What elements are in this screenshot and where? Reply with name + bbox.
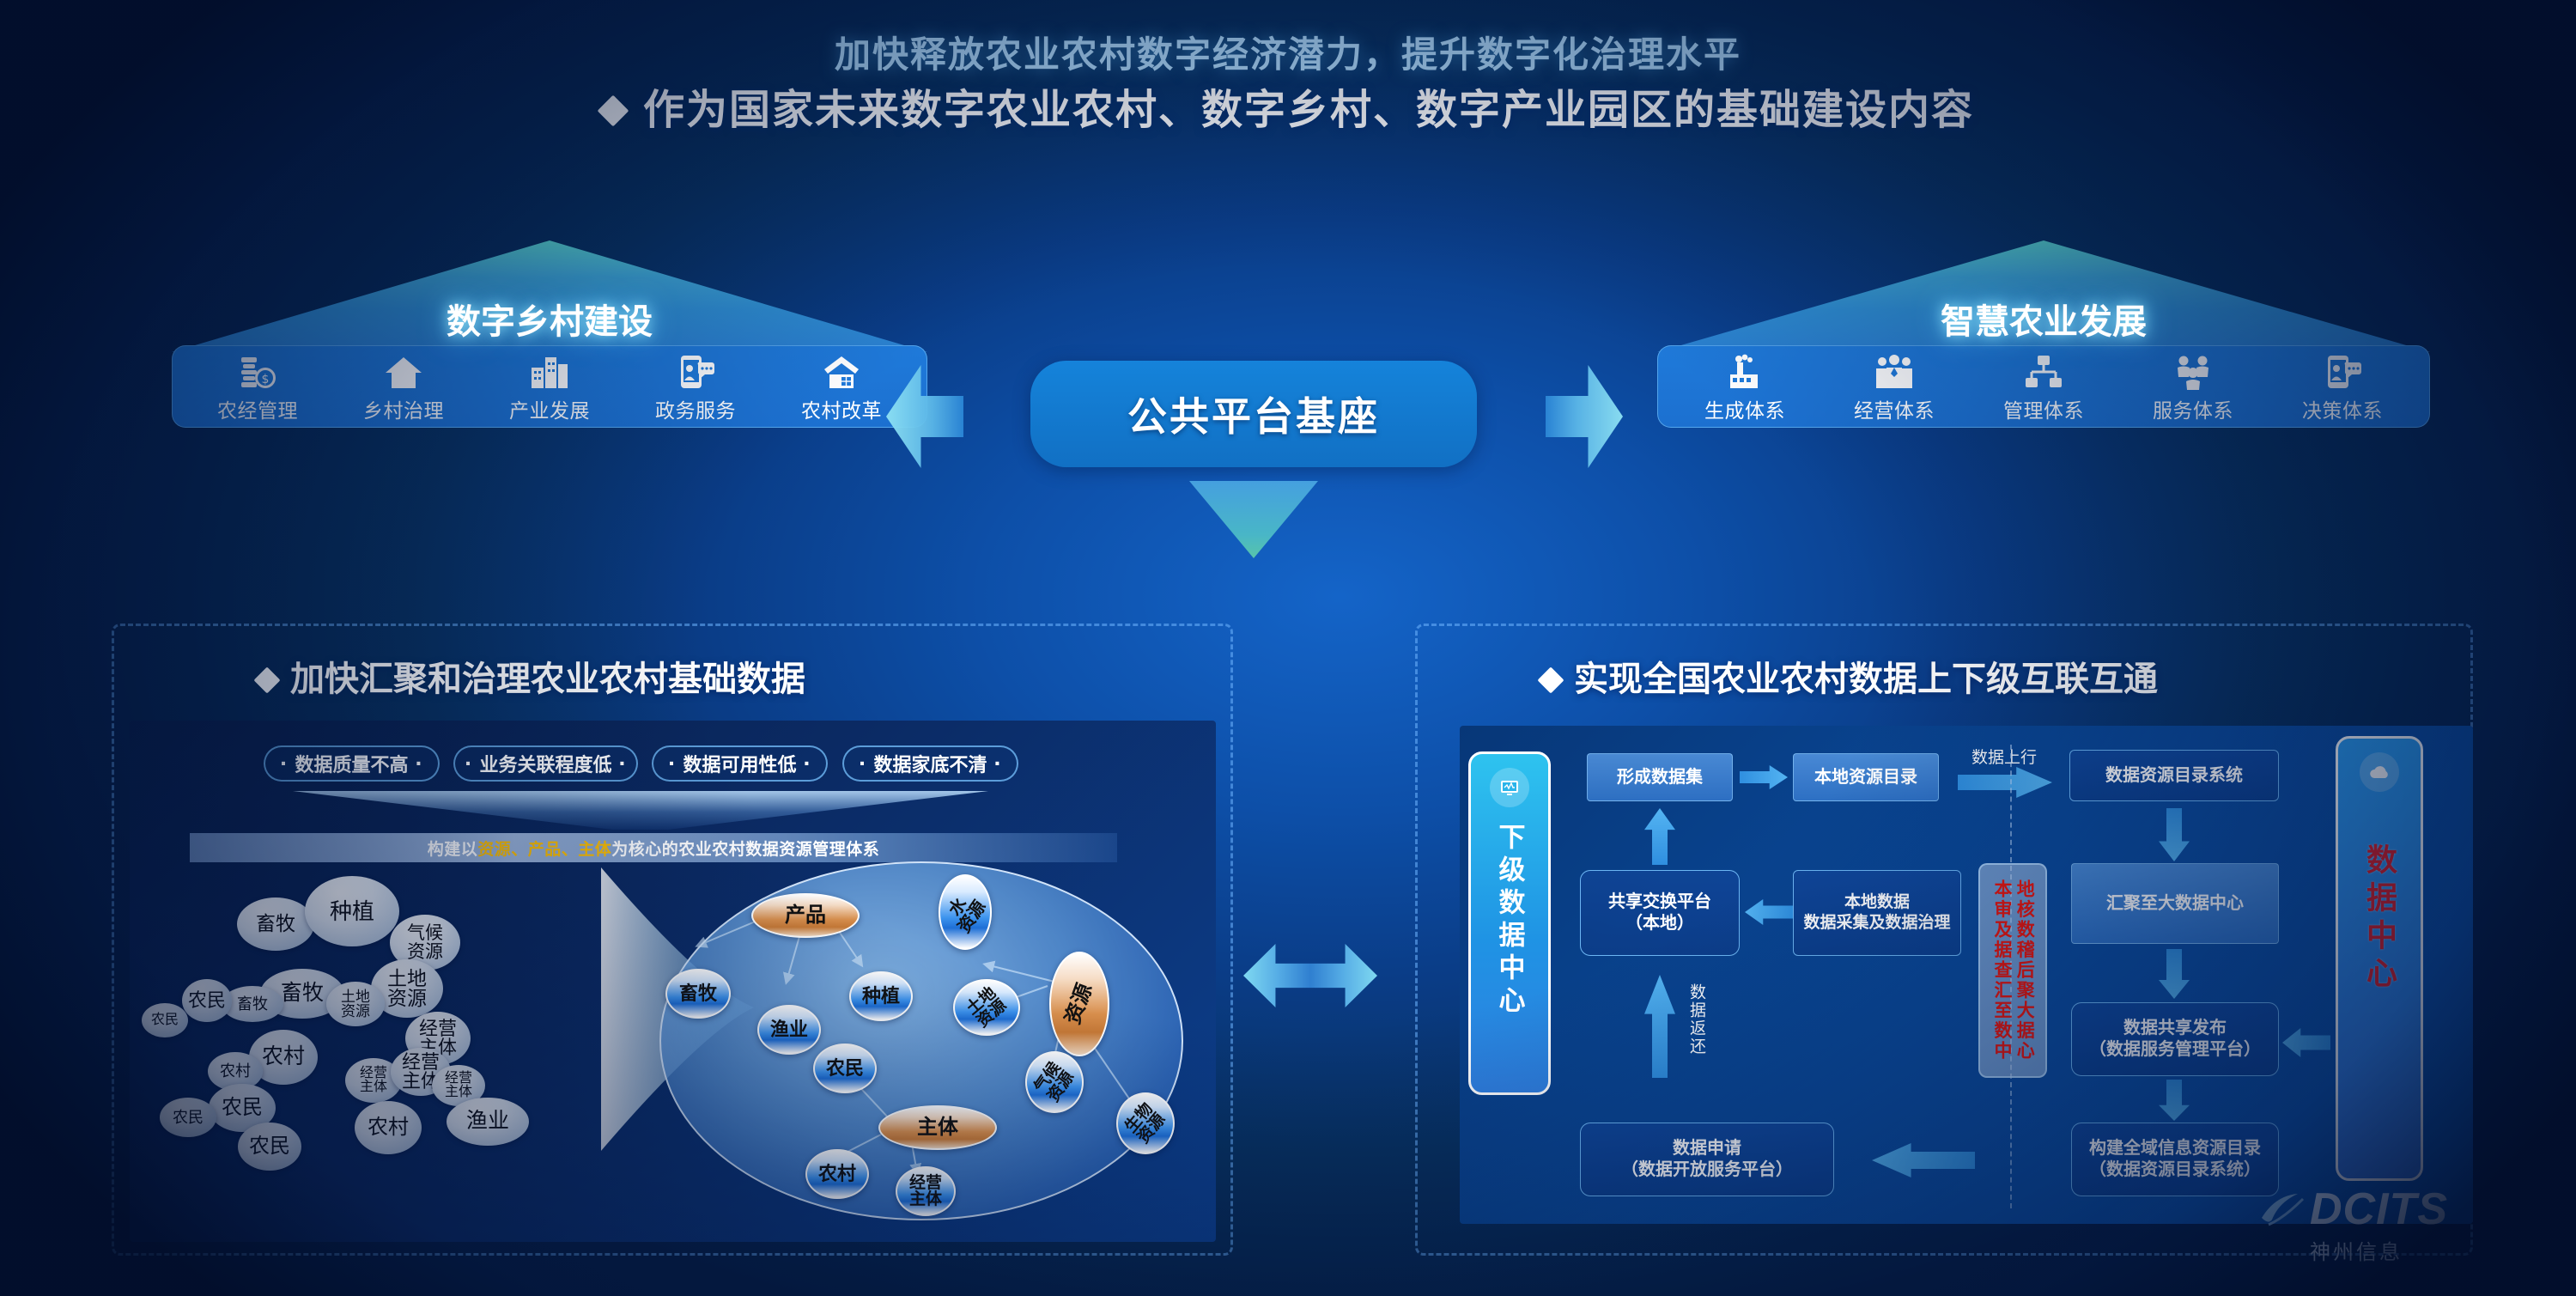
problem-pill[interactable]: 数据质量不高: [264, 745, 440, 782]
house-icon: [362, 350, 445, 390]
feature-label: 生成体系: [1704, 394, 1786, 423]
feature-label: 农经管理: [216, 394, 299, 423]
box-data-apply[interactable]: 数据申请 （数据开放服务平台）: [1580, 1123, 1834, 1196]
feature-农村改革[interactable]: 农村改革: [800, 350, 883, 423]
scatter-bubble: 农民: [182, 979, 232, 1022]
box-catalog-system[interactable]: 数据资源目录系统: [2069, 750, 2279, 801]
box-gather-center[interactable]: 汇聚至大数据中心: [2071, 863, 2279, 944]
lower-data-center-label: 下级数据中心: [1491, 823, 1529, 1019]
arrow-up-icon: [1644, 808, 1675, 865]
core-node-label: 农村: [818, 1165, 856, 1183]
money-stack-icon: $: [216, 350, 299, 390]
core-node-bubble: 渔业: [757, 1005, 821, 1055]
funnel-shape: [293, 791, 988, 830]
data-center-column[interactable]: 数据中心: [2336, 736, 2423, 1181]
banner-sep-2: 、: [562, 837, 579, 860]
logo-mark-text: DCITS: [2310, 1183, 2448, 1235]
arrow-right-icon: [1546, 365, 1623, 468]
data-interconnect-title: 实现全国农业农村数据上下级互联互通: [1541, 651, 2158, 701]
banner-sep-1: 、: [511, 837, 528, 860]
core-node-bubble: 农村: [805, 1149, 869, 1199]
core-node-label: 生物 资源: [1122, 1100, 1169, 1147]
company-logo: DCITS 神州信息: [2310, 1183, 2448, 1265]
public-platform-base[interactable]: 公共平台基座: [1030, 361, 1477, 467]
feature-产业发展[interactable]: 产业发展: [508, 350, 591, 423]
feature-label: 农村改革: [800, 394, 883, 423]
red-note-text: 地核数稽后聚大据心本审及据查汇至数中: [1990, 879, 2036, 1062]
red-note-box: 地核数稽后聚大据心本审及据查汇至数中: [1978, 863, 2047, 1078]
core-node-label: 资源: [1063, 981, 1097, 1026]
box-local-data[interactable]: 本地数据 数据采集及数据治理: [1793, 870, 1961, 956]
digital-village-title: 数字乡村建设: [172, 294, 927, 344]
buildings-icon: [508, 350, 591, 390]
arrow-down-icon: [1189, 481, 1318, 558]
banner-suffix: 为核心的农业农村数据资源管理体系: [611, 837, 879, 860]
arrow-up-icon: [1644, 975, 1675, 1078]
scatter-bubble: 土地 资源: [326, 982, 385, 1026]
monitor-icon: [1490, 768, 1529, 807]
village-house-icon: [800, 350, 883, 390]
box-build-catalog[interactable]: 构建全域信息资源目录 （数据资源目录系统）: [2071, 1123, 2279, 1196]
arrow-down-icon: [2159, 1080, 2190, 1121]
bidirectional-arrow-icon: [1243, 938, 1377, 1013]
feature-政务服务[interactable]: 政务服务: [654, 350, 737, 423]
digital-village-card[interactable]: 数字乡村建设 $ 农经管理 乡村治理 产业发展: [172, 240, 927, 438]
diamond-bullet-icon: [598, 95, 629, 127]
feature-管理体系[interactable]: 管理体系: [2002, 350, 2085, 423]
problem-pill[interactable]: 数据家底不清: [842, 745, 1018, 782]
core-node-bubble: 农民: [813, 1043, 877, 1093]
team-service-icon: [2152, 350, 2234, 390]
red-note-col-2: 地核数稽后聚大据心: [2014, 879, 2034, 1062]
smart-agriculture-card[interactable]: 智慧农业发展 生成体系 经营体系 管理体系: [1657, 240, 2430, 438]
feature-决策体系[interactable]: 决策体系: [2301, 350, 2384, 423]
mobile-service-icon: [654, 350, 737, 390]
feature-label: 决策体系: [2301, 394, 2384, 423]
page-title-text: 作为国家未来数字农业农村、数字乡村、数字产业园区的基础建设内容: [643, 88, 1974, 133]
feature-label: 产业发展: [508, 394, 591, 423]
core-node-bubble: 生物 资源: [1116, 1092, 1175, 1154]
org-chart-icon: [2002, 350, 2085, 390]
box-local-catalog[interactable]: 本地资源目录: [1793, 753, 1939, 801]
digital-village-features: $ 农经管理 乡村治理 产业发展 政务服务: [172, 345, 927, 428]
box-share-platform[interactable]: 共享交换平台 （本地）: [1580, 870, 1740, 956]
core-node-bubble: 经营 主体: [896, 1166, 956, 1216]
cloud-icon: [2360, 752, 2399, 792]
core-node-bubble: 气候 资源: [1025, 1051, 1084, 1113]
core-node-label: 气候 资源: [1032, 1060, 1078, 1105]
feature-经营体系[interactable]: 经营体系: [1853, 350, 1935, 423]
page-title: 作为国家未来数字农业农村、数字乡村、数字产业园区的基础建设内容: [0, 76, 2576, 136]
problem-pill[interactable]: 业务关联程度低: [453, 745, 638, 782]
feature-乡村治理[interactable]: 乡村治理: [362, 350, 445, 423]
arrow-left-icon: [1872, 1143, 1975, 1177]
red-note-col-1: 本审及据查汇至数中: [1992, 879, 2012, 1062]
core-node-label: 水 资源: [941, 888, 989, 936]
banner-highlight-1: 资源: [477, 837, 511, 860]
scatter-bubble: 农民: [142, 1003, 188, 1037]
header-subtitle: 加快释放农业农村数字经济潜力，提升数字化治理水平: [0, 26, 2576, 78]
core-node-label: 渔业: [770, 1020, 808, 1039]
arrow-down-icon: [2159, 808, 2190, 861]
scatter-bubble: 种植: [305, 876, 399, 946]
core-node-label: 产品: [785, 905, 826, 926]
banner-highlight-3: 主体: [578, 837, 611, 860]
diamond-bullet-icon: [253, 666, 280, 693]
core-node-bubble: 土地 资源: [953, 979, 1020, 1036]
lower-data-center-column[interactable]: 下级数据中心: [1468, 751, 1551, 1095]
feature-服务体系[interactable]: 服务体系: [2152, 350, 2234, 423]
label-data-return: 数据返还: [1685, 983, 1708, 1056]
core-system-banner: 构建以资源、产品、主体为核心的农业农村数据资源管理体系: [190, 833, 1117, 862]
problem-pill[interactable]: 数据可用性低: [652, 745, 828, 782]
core-node-label: 种植: [862, 987, 900, 1006]
logo-cn-text: 神州信息: [2310, 1235, 2448, 1265]
interconnect-visual-area: 下级数据中心 形成数据集 本地资源目录 数据上行 数据资源目录系统 共享交换平台…: [1460, 726, 2473, 1224]
arrow-right-icon: [1958, 767, 2052, 798]
logo-mark-icon: [2258, 1189, 2312, 1233]
data-aggregation-title: 加快汇聚和治理农业农村基础数据: [258, 651, 805, 701]
core-node-bubble: 主体: [878, 1105, 997, 1150]
mobile-decision-icon: [2301, 350, 2384, 390]
core-node-bubble: 资源: [1049, 952, 1109, 1056]
feature-label: 管理体系: [2002, 394, 2085, 423]
core-node-label: 畜牧: [679, 984, 717, 1003]
feature-label: 服务体系: [2152, 394, 2234, 423]
core-node-label: 土地 资源: [963, 984, 1010, 1031]
box-form-dataset[interactable]: 形成数据集: [1587, 753, 1733, 801]
core-node-bubble: 水 资源: [939, 874, 992, 950]
arrow-right-icon: [1740, 765, 1788, 789]
core-node-bubble: 种植: [849, 971, 913, 1021]
smart-agriculture-features: 生成体系 经营体系 管理体系 服务体系: [1657, 345, 2430, 428]
feature-label: 乡村治理: [362, 394, 445, 423]
scatter-bubble: 渔业: [447, 1098, 529, 1146]
label-data-up: 数据上行: [1971, 745, 2037, 768]
banner-highlight-2: 产品: [528, 837, 562, 860]
feature-生成体系[interactable]: 生成体系: [1704, 350, 1786, 423]
data-center-label: 数据中心: [2357, 843, 2402, 995]
people-group-icon: [1853, 350, 1935, 390]
banner-prefix: 构建以: [428, 837, 478, 860]
core-node-bubble: 畜牧: [665, 969, 731, 1019]
feature-label: 经营体系: [1853, 394, 1935, 423]
arrow-down-icon: [2159, 949, 2190, 999]
scatter-bubble: 畜牧: [237, 897, 314, 951]
feature-农经管理[interactable]: $ 农经管理: [216, 350, 299, 423]
public-platform-label: 公共平台基座: [1127, 386, 1380, 442]
scatter-bubble: 农村: [355, 1101, 422, 1154]
smart-agriculture-title: 智慧农业发展: [1657, 294, 2430, 344]
core-node-label: 经营 主体: [909, 1175, 942, 1208]
core-node-bubble: 产品: [751, 893, 860, 938]
scatter-bubble: 农民: [238, 1123, 301, 1171]
core-node-label: 农民: [826, 1059, 864, 1078]
feature-label: 政务服务: [654, 394, 737, 423]
title-text: 实现全国农业农村数据上下级互联互通: [1574, 660, 2158, 698]
arrow-left-icon: [1745, 899, 1793, 925]
factory-icon: [1704, 350, 1786, 390]
diamond-bullet-icon: [1537, 666, 1564, 693]
title-text: 加快汇聚和治理农业农村基础数据: [290, 660, 805, 698]
scatter-bubble: 农民: [160, 1098, 216, 1137]
arrow-left-icon: [2282, 1028, 2330, 1057]
svg-text:$: $: [262, 373, 270, 386]
core-node-label: 主体: [917, 1117, 958, 1138]
slide-canvas: 加快释放农业农村数字经济潜力，提升数字化治理水平 作为国家未来数字农业农村、数字…: [0, 0, 2576, 1296]
box-share-publish[interactable]: 数据共享发布 （数据服务管理平台）: [2071, 1002, 2279, 1076]
